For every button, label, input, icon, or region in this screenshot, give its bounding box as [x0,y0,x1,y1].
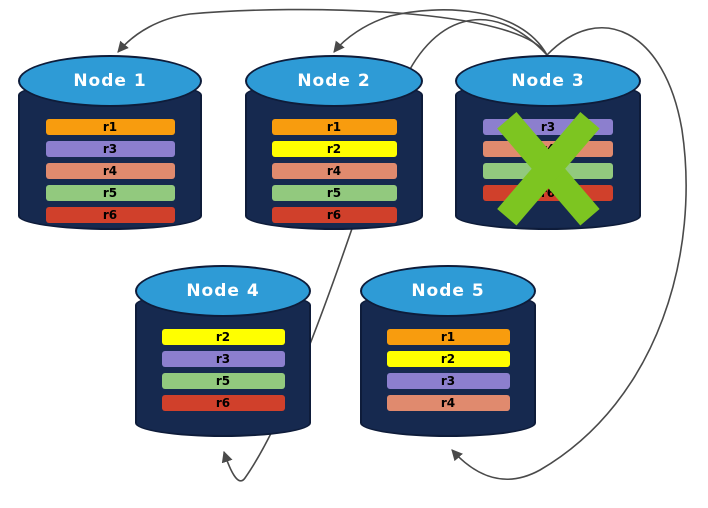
node-2-label: Node 2 [297,71,370,91]
node-2-row-r2[interactable]: r2 [272,141,397,157]
node-1-row-r6[interactable]: r6 [46,207,175,223]
node-4-row-r5[interactable]: r5 [162,373,285,389]
node-4-rows: r2r3r5r6 [135,329,311,417]
arrow-node3-to-node2 [334,10,547,55]
node-4-row-r3[interactable]: r3 [162,351,285,367]
node-2-row-r5[interactable]: r5 [272,185,397,201]
node-5-row-r4[interactable]: r4 [387,395,510,411]
node-1-rows: r1r3r4r5r6 [18,119,202,229]
node-2-top: Node 2 [245,55,423,107]
node-5-label: Node 5 [411,281,484,301]
node-5-row-r1[interactable]: r1 [387,329,510,345]
node-3-row-r6[interactable]: r6 [483,185,613,201]
node-4[interactable]: Node 4r2r3r5r6 [135,265,311,437]
node-1-top: Node 1 [18,55,202,107]
node-5-top: Node 5 [360,265,536,317]
node-3-row-r3[interactable]: r3 [483,119,613,135]
node-2-row-r4[interactable]: r4 [272,163,397,179]
node-1-row-r1[interactable]: r1 [46,119,175,135]
node-2[interactable]: Node 2r1r2r4r5r6 [245,55,423,230]
node-1-label: Node 1 [73,71,146,91]
arrow-node3-to-node1 [118,10,547,55]
node-1-row-r3[interactable]: r3 [46,141,175,157]
node-3[interactable]: Node 3r3r4r5r6 [455,55,641,230]
node-3-row-r5[interactable]: r5 [483,163,613,179]
node-4-top: Node 4 [135,265,311,317]
node-1-row-r5[interactable]: r5 [46,185,175,201]
node-3-row-r4[interactable]: r4 [483,141,613,157]
node-4-row-r2[interactable]: r2 [162,329,285,345]
node-2-row-r6[interactable]: r6 [272,207,397,223]
node-5[interactable]: Node 5r1r2r3r4 [360,265,536,437]
node-2-row-r1[interactable]: r1 [272,119,397,135]
node-5-row-r3[interactable]: r3 [387,373,510,389]
node-2-rows: r1r2r4r5r6 [245,119,423,229]
node-3-rows: r3r4r5r6 [455,119,641,207]
node-3-label: Node 3 [511,71,584,91]
node-5-rows: r1r2r3r4 [360,329,536,417]
node-4-row-r6[interactable]: r6 [162,395,285,411]
node-4-label: Node 4 [186,281,259,301]
node-5-row-r2[interactable]: r2 [387,351,510,367]
diagram-canvas: Node 1r1r3r4r5r6Node 2r1r2r4r5r6Node 3r3… [0,0,708,508]
node-1[interactable]: Node 1r1r3r4r5r6 [18,55,202,230]
node-1-row-r4[interactable]: r4 [46,163,175,179]
node-3-top: Node 3 [455,55,641,107]
